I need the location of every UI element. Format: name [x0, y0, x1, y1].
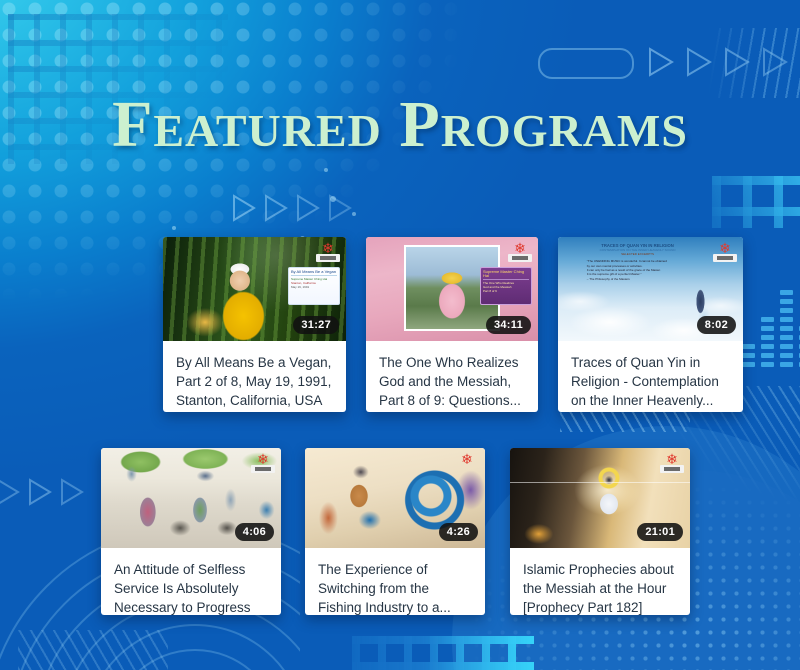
program-thumbnail[interactable]: ❄ 21:01: [510, 448, 690, 548]
program-thumbnail[interactable]: ❄ Supreme Master Ching Hai The One Who R…: [366, 237, 538, 341]
thumbnail-caption-overlay: By All Means Be a Vegan Supreme Master C…: [288, 267, 340, 305]
program-card[interactable]: ❄ 4:06 An Attitude of Selfless Service I…: [101, 448, 281, 615]
featured-programs-banner: Featured Programs ❄ By All Means Be a Ve…: [0, 0, 800, 670]
speck-dot: [352, 212, 356, 216]
program-thumbnail[interactable]: TRACES OF QUAN YIN IN RELIGION CONTEMPLA…: [558, 237, 743, 341]
rounded-pill-outline-icon: [538, 48, 634, 79]
duration-badge: 34:11: [486, 316, 531, 334]
duration-badge: 31:27: [293, 316, 339, 334]
play-triangle-outline-icon: [296, 194, 320, 222]
play-triangle-outline-icon: [60, 478, 84, 506]
program-title: The Experience of Switching from the Fis…: [305, 548, 485, 615]
program-card[interactable]: ❄ 21:01 Islamic Prophecies about the Mes…: [510, 448, 690, 615]
program-title: An Attitude of Selfless Service Is Absol…: [101, 548, 281, 615]
thumbnail-caption-overlay: Supreme Master Ching Hai The One Who Rea…: [480, 267, 532, 305]
channel-logo-icon: ❄: [508, 241, 532, 265]
diagonal-line-pattern-bottom-left: [18, 630, 168, 670]
equalizer-bars-right: [742, 290, 800, 367]
page-title: Featured Programs: [0, 92, 800, 158]
play-triangle-outline-icon: [232, 194, 256, 222]
duration-badge: 21:01: [637, 523, 683, 541]
program-thumbnail[interactable]: ❄ 4:06: [101, 448, 281, 548]
program-title: Islamic Prophecies about the Messiah at …: [510, 548, 690, 615]
program-card[interactable]: ❄ 4:26 The Experience of Switching from …: [305, 448, 485, 615]
play-triangle-outline-icon: [724, 47, 750, 77]
play-triangle-outline-icon: [328, 194, 352, 222]
program-card[interactable]: TRACES OF QUAN YIN IN RELIGION CONTEMPLA…: [558, 237, 743, 412]
channel-logo-icon: ❄: [455, 452, 479, 476]
square-grid-right: [712, 176, 800, 228]
play-triangle-outline-icon: [686, 47, 712, 77]
program-title: By All Means Be a Vegan, Part 2 of 8, Ma…: [163, 341, 346, 412]
speck-dot: [324, 168, 328, 172]
channel-logo-icon: ❄: [251, 452, 275, 476]
speck-dot: [172, 226, 176, 230]
play-triangle-outline-icon: [648, 47, 674, 77]
duration-badge: 4:06: [235, 523, 274, 541]
play-triangle-outline-icon: [0, 478, 20, 506]
duration-badge: 4:26: [439, 523, 478, 541]
program-card[interactable]: ❄ Supreme Master Ching Hai The One Who R…: [366, 237, 538, 412]
play-triangle-outline-icon: [264, 194, 288, 222]
channel-logo-icon: ❄: [316, 241, 340, 265]
play-triangle-outline-icon: [762, 47, 788, 77]
program-title: Traces of Quan Yin in Religion - Contemp…: [558, 341, 743, 412]
duration-badge: 8:02: [697, 316, 736, 334]
play-triangle-outline-icon: [28, 478, 52, 506]
channel-logo-icon: ❄: [660, 452, 684, 476]
program-thumbnail[interactable]: ❄ By All Means Be a Vegan Supreme Master…: [163, 237, 346, 341]
program-thumbnail[interactable]: ❄ 4:26: [305, 448, 485, 548]
channel-logo-icon: ❄: [713, 241, 737, 265]
thumbnail-text-block: TRACES OF QUAN YIN IN RELIGION CONTEMPLA…: [573, 243, 703, 297]
program-card[interactable]: ❄ By All Means Be a Vegan Supreme Master…: [163, 237, 346, 412]
program-title: The One Who Realizes God and the Messiah…: [366, 341, 538, 412]
